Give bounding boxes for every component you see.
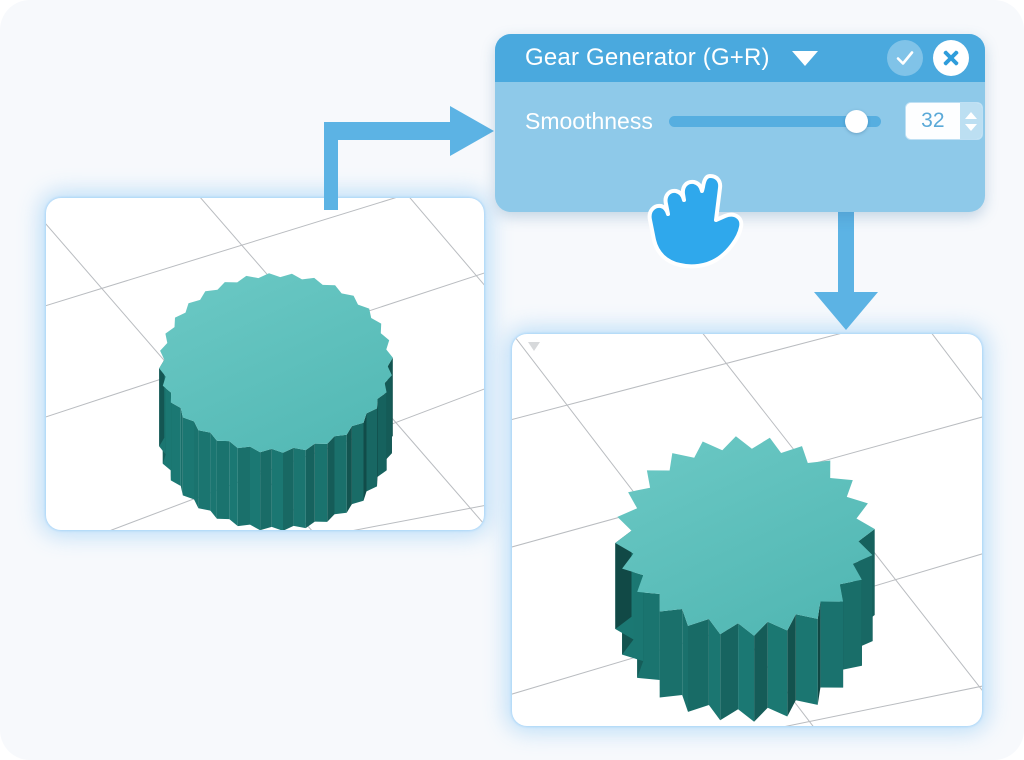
preview-card-before[interactable] (46, 198, 484, 530)
triangle-up-icon[interactable] (965, 112, 977, 119)
close-x-icon (939, 46, 963, 70)
stepper-spin-buttons[interactable] (960, 103, 982, 139)
smoothness-row: Smoothness 32 (525, 102, 985, 140)
panel-title: Gear Generator (G+R) (525, 44, 770, 72)
panel-header: Gear Generator (G+R) (495, 34, 985, 82)
pointing-hand-cursor-icon (640, 170, 750, 270)
smoothness-value[interactable]: 32 (906, 103, 960, 139)
smoothness-label: Smoothness (525, 108, 653, 135)
arrow-panel-to-after (800, 196, 892, 332)
check-icon (894, 47, 916, 69)
app-canvas: Gear Generator (G+R) Smoothness (0, 0, 1024, 760)
panel-header-buttons (887, 40, 969, 76)
gear-model-before[interactable] (46, 198, 484, 530)
preview-card-after[interactable] (512, 334, 982, 726)
confirm-button[interactable] (887, 40, 923, 76)
slider-knob[interactable] (845, 110, 868, 133)
arrow-before-to-panel (318, 100, 498, 210)
chevron-down-icon[interactable] (792, 51, 818, 66)
close-button[interactable] (933, 40, 969, 76)
triangle-down-icon[interactable] (965, 124, 977, 131)
smoothness-stepper[interactable]: 32 (905, 102, 983, 140)
smoothness-slider[interactable] (669, 110, 881, 132)
gear-model-after[interactable] (512, 334, 982, 726)
